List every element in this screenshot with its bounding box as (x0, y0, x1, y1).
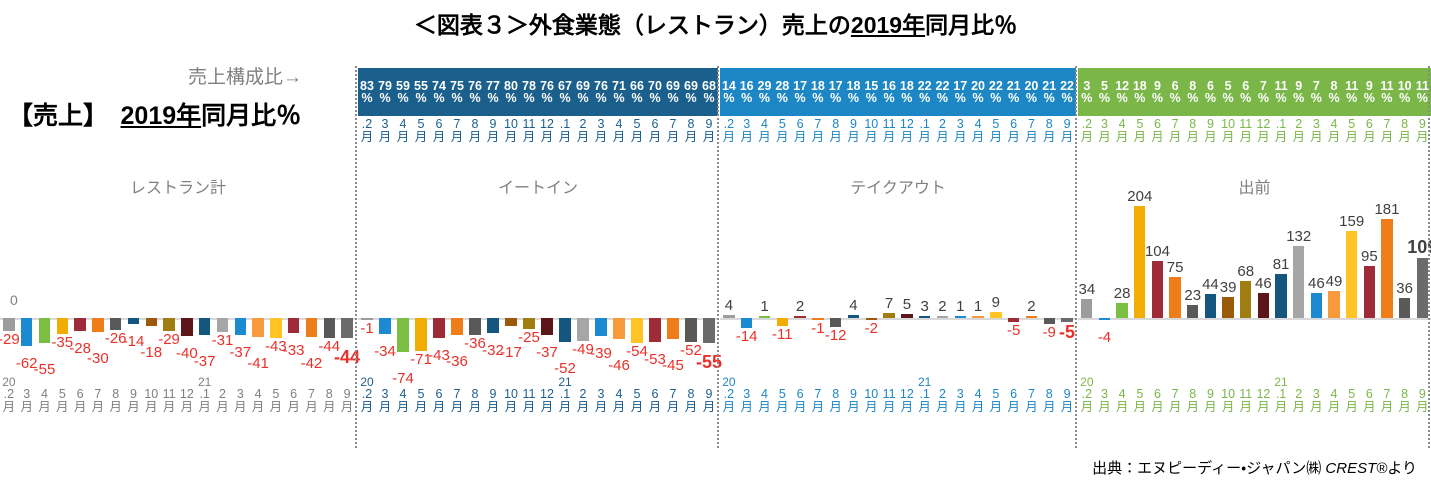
panel-title-eat_in: イートイン (358, 174, 718, 198)
bar-value-label: 81 (1273, 257, 1290, 272)
composition-cell: 6% (1166, 68, 1184, 116)
month-number: 3 (957, 388, 964, 401)
month-tick: 8月 (320, 388, 338, 434)
percent-sign: % (649, 92, 660, 105)
month-number: .2 (362, 388, 372, 401)
month-tick: 12月 (898, 118, 916, 164)
year-label: 21 (918, 106, 931, 118)
percent-sign: % (1134, 92, 1145, 105)
bar (1311, 293, 1322, 318)
bar (469, 318, 481, 335)
month-unit: 月 (1398, 131, 1411, 144)
month-number: 8 (832, 388, 839, 401)
percent-sign: % (595, 92, 606, 105)
percent-sign: % (1187, 92, 1198, 105)
month-unit: 月 (954, 131, 967, 144)
bar (1346, 231, 1357, 318)
month-number: .2 (362, 118, 372, 131)
bar-slot: -55 (700, 196, 718, 388)
bar-value-label: -1 (811, 321, 824, 336)
month-unit: 月 (216, 401, 229, 414)
month-number: 4 (41, 388, 48, 401)
composition-cell: 75% (448, 68, 466, 116)
composition-cell: 68% (700, 68, 718, 116)
bar-slot: -1 (809, 196, 827, 388)
percent-sign: % (1099, 92, 1110, 105)
month-tick: 3月 (376, 388, 394, 434)
month-unit: 月 (163, 401, 176, 414)
month-unit: 月 (523, 131, 536, 144)
month-tick: 5月 (773, 118, 791, 164)
month-tick: 8月 (107, 388, 125, 434)
month-number: 11 (883, 388, 896, 401)
bar (685, 318, 697, 342)
plot-area-delivery: 34-4282041047523443968468113246491599518… (1078, 196, 1431, 388)
month-tick: 6月 (430, 118, 448, 164)
percent-sign: % (723, 92, 734, 105)
percent-sign: % (379, 92, 390, 105)
bar (559, 318, 571, 342)
month-tick: 7月 (1023, 388, 1041, 434)
bar-slot: -52 (556, 196, 574, 388)
month-number: 3 (598, 118, 605, 131)
panel-divider (1075, 66, 1077, 448)
bar-slot: -41 (249, 196, 267, 388)
bar (649, 318, 661, 342)
bar-value-label: 68 (1237, 264, 1254, 279)
month-unit: 月 (1363, 131, 1376, 144)
month-number: 9 (1064, 118, 1071, 131)
month-number: 3 (743, 388, 750, 401)
month-number: 9 (130, 388, 137, 401)
month-tick: 7月 (664, 118, 682, 164)
month-unit: 月 (1151, 131, 1164, 144)
bar-slot: 5 (898, 196, 916, 388)
percent-sign: % (577, 92, 588, 105)
bar (1134, 206, 1145, 318)
bar (181, 318, 192, 336)
month-tick: 20.2月 (720, 118, 738, 164)
month-unit: 月 (703, 131, 716, 144)
year-label: 21 (558, 106, 571, 118)
month-number: 8 (832, 118, 839, 131)
bar (74, 318, 85, 331)
percent-sign: % (433, 92, 444, 105)
month-number: 7 (1028, 388, 1035, 401)
bar-value-label: -5 (1007, 323, 1020, 338)
month-unit: 月 (577, 131, 590, 144)
month-number: 6 (436, 388, 443, 401)
bar-slot: -4 (1096, 196, 1114, 388)
percent-sign: % (777, 92, 788, 105)
month-unit: 月 (685, 131, 698, 144)
month-number: 12 (540, 118, 554, 131)
month-unit: 月 (1151, 401, 1164, 414)
month-number: 2 (1295, 118, 1302, 131)
bar (110, 318, 121, 330)
month-unit: 月 (56, 401, 69, 414)
bar-slot: 132 (1290, 196, 1308, 388)
month-unit: 月 (847, 401, 860, 414)
month-tick: 5月 (53, 388, 71, 434)
bar (3, 318, 14, 331)
month-number: .1 (560, 118, 570, 131)
month-tick: 6月 (1361, 118, 1379, 164)
year-label: 20 (1080, 376, 1093, 388)
composition-cell: 78% (520, 68, 538, 116)
bar-value-label: 2 (1027, 299, 1035, 314)
month-unit: 月 (451, 401, 464, 414)
month-number: 5 (418, 388, 425, 401)
year-label: 20 (360, 106, 373, 118)
month-tick: 21.1月 (916, 118, 934, 164)
month-unit: 月 (829, 131, 842, 144)
month-number: 9 (1064, 388, 1071, 401)
month-unit: 月 (127, 401, 140, 414)
month-tick: 12月 (178, 388, 196, 434)
month-unit: 月 (990, 401, 1003, 414)
month-number: 3 (382, 118, 389, 131)
composition-cell: 18% (845, 68, 863, 116)
composition-cell: 7% (1308, 68, 1326, 116)
month-unit: 月 (1363, 401, 1376, 414)
percent-sign: % (848, 92, 859, 105)
month-unit: 月 (972, 131, 985, 144)
bar-slot: 95 (1361, 196, 1379, 388)
month-tick: 7月 (1166, 388, 1184, 434)
bar-value-label: 4 (849, 298, 857, 313)
month-tick: 10月 (502, 118, 520, 164)
month-tick: 9月 (1058, 388, 1076, 434)
month-tick: 4月 (756, 118, 774, 164)
month-unit: 月 (559, 131, 572, 144)
plot-area-restaurant_total: -29-62-55-35-28-30-26-14-18-29-40-37-31-… (0, 196, 356, 388)
source-brand: CREST® (1325, 460, 1387, 477)
month-unit: 月 (865, 401, 878, 414)
bar (92, 318, 103, 332)
bar-slot: 39 (1219, 196, 1237, 388)
bar-value-label: 49 (1326, 274, 1343, 289)
bar (901, 314, 912, 318)
month-tick: 4月 (756, 388, 774, 434)
month-unit: 月 (990, 131, 1003, 144)
month-tick: 4月 (969, 118, 987, 164)
month-unit: 月 (1081, 401, 1094, 414)
month-unit: 月 (776, 401, 789, 414)
percent-sign: % (741, 92, 752, 105)
plot-area-takeout: 4-141-112-1-124-27532119-52-9-5 (720, 196, 1076, 388)
bar (1026, 316, 1037, 318)
month-number: 10 (504, 118, 518, 131)
month-unit: 月 (1187, 131, 1200, 144)
month-tick: 9月 (845, 118, 863, 164)
bar-group-eat_in: -1-34-74-71-43-36-36-32-17-25-37-52-49-3… (358, 196, 718, 388)
month-unit: 月 (1116, 401, 1129, 414)
bar (451, 318, 463, 335)
bar-slot: -44 (338, 196, 356, 388)
month-unit: 月 (1275, 401, 1288, 414)
month-unit: 月 (883, 401, 896, 414)
bar-slot: -62 (18, 196, 36, 388)
month-unit: 月 (1187, 401, 1200, 414)
month-unit: 月 (723, 401, 736, 414)
month-tick: 8月 (827, 118, 845, 164)
bar (1222, 297, 1233, 318)
month-unit: 月 (361, 131, 374, 144)
month-unit: 月 (433, 131, 446, 144)
month-tick: 4月 (969, 388, 987, 434)
panel-divider (355, 66, 357, 448)
month-tick: 5月 (987, 118, 1005, 164)
month-unit: 月 (865, 131, 878, 144)
month-unit: 月 (1043, 131, 1056, 144)
bar (39, 318, 50, 343)
month-unit: 月 (723, 131, 736, 144)
month-tick: 5月 (1343, 388, 1361, 434)
percent-sign: % (451, 92, 462, 105)
month-tick: 5月 (1131, 388, 1149, 434)
composition-cell: 59% (394, 68, 412, 116)
bar-value-label: 95 (1361, 249, 1378, 264)
bar (919, 316, 930, 318)
month-unit: 月 (341, 401, 354, 414)
composition-cell: 69% (682, 68, 700, 116)
year-label: 21 (558, 376, 571, 388)
percent-sign: % (884, 92, 895, 105)
percent-sign: % (1044, 92, 1055, 105)
bar (955, 316, 966, 318)
bar-slot: 81 (1272, 196, 1290, 388)
bar-value-label: 39 (1220, 280, 1237, 295)
month-tick: 20.2月 (358, 388, 376, 434)
bar-value-label: 9 (992, 295, 1000, 310)
month-unit: 月 (667, 401, 680, 414)
month-number: 7 (1172, 388, 1179, 401)
month-unit: 月 (1239, 401, 1252, 414)
month-tick: 3月 (1308, 118, 1326, 164)
bar-slot: 7 (880, 196, 898, 388)
composition-cell: 70% (646, 68, 664, 116)
month-tick: 8月 (466, 388, 484, 434)
month-tick: 5月 (773, 388, 791, 434)
month-number: 5 (1348, 388, 1355, 401)
bar (777, 318, 788, 326)
month-number: .2 (724, 388, 734, 401)
month-unit: 月 (74, 401, 87, 414)
bar-value-label: 2 (796, 299, 804, 314)
percent-sign: % (1311, 92, 1322, 105)
month-unit: 月 (1204, 401, 1217, 414)
month-number: 12 (540, 388, 554, 401)
percent-sign: % (1240, 92, 1251, 105)
month-unit: 月 (595, 131, 608, 144)
bar-value-label: 1 (956, 299, 964, 314)
bar-value-label: -41 (247, 356, 269, 371)
month-number: 8 (472, 118, 479, 131)
month-tick: 4月 (610, 118, 628, 164)
month-tick: 10月 (142, 388, 160, 434)
composition-cell: 17% (951, 68, 969, 116)
month-tick: 21.1月 (916, 388, 934, 434)
bar-slot: 4 (720, 196, 738, 388)
month-tick: 6月 (646, 118, 664, 164)
month-tick: 5月 (412, 388, 430, 434)
month-unit: 月 (379, 131, 392, 144)
month-tick: 8月 (1040, 118, 1058, 164)
month-tick: 21.1月 (556, 118, 574, 164)
bar-slot: -11 (773, 196, 791, 388)
month-number: 4 (616, 388, 623, 401)
month-axis-top-takeout: 20.2月3月4月5月6月7月8月9月10月11月12月21.1月2月3月4月5… (720, 118, 1076, 164)
percent-sign: % (1258, 92, 1269, 105)
bar-value-label: -55 (34, 362, 56, 377)
month-number: 9 (706, 388, 713, 401)
month-number: 4 (761, 118, 768, 131)
month-number: .1 (1276, 388, 1286, 401)
composition-cell: 22% (934, 68, 952, 116)
bar (523, 318, 535, 329)
month-tick: 4月 (394, 388, 412, 434)
month-number: 7 (814, 118, 821, 131)
month-number: 8 (1046, 118, 1053, 131)
month-number: 3 (382, 388, 389, 401)
composition-band-eat_in: 83%79%59%55%74%75%76%77%80%78%76%67%69%7… (358, 68, 718, 116)
month-number: 9 (490, 118, 497, 131)
composition-cell: 77% (484, 68, 502, 116)
bar-slot: -30 (89, 196, 107, 388)
bar (1081, 299, 1092, 318)
percent-sign: % (866, 92, 877, 105)
bar-value-label: -37 (536, 345, 558, 360)
bar (667, 318, 679, 339)
month-tick: 3月 (1096, 118, 1114, 164)
month-unit: 月 (1081, 131, 1094, 144)
year-label: 20 (1080, 106, 1093, 118)
bar-group-delivery: 34-4282041047523443968468113246491599518… (1078, 196, 1431, 388)
month-unit: 月 (1007, 131, 1020, 144)
month-unit: 月 (1204, 131, 1217, 144)
month-unit: 月 (252, 401, 265, 414)
bar-slot: -35 (53, 196, 71, 388)
bar-slot: -17 (502, 196, 520, 388)
month-number: 4 (1119, 118, 1126, 131)
bar (1169, 277, 1180, 318)
month-tick: 9月 (338, 388, 356, 434)
month-number: 4 (1119, 388, 1126, 401)
month-tick: 11月 (520, 388, 538, 434)
bar (1417, 258, 1428, 318)
month-unit: 月 (1398, 401, 1411, 414)
month-tick: 6月 (791, 388, 809, 434)
bar-group-takeout: 4-141-112-1-124-27532119-52-9-5 (720, 196, 1076, 388)
month-number: 11 (163, 388, 176, 401)
month-number: 7 (94, 388, 101, 401)
month-unit: 月 (631, 401, 644, 414)
month-number: 6 (1366, 388, 1373, 401)
month-number: 9 (344, 388, 351, 401)
composition-cell: 17% (791, 68, 809, 116)
month-unit: 月 (936, 401, 949, 414)
bar (937, 316, 948, 318)
composition-cell: 18% (809, 68, 827, 116)
month-number: 7 (308, 388, 315, 401)
percent-sign: % (1364, 92, 1375, 105)
bar-value-label: -12 (825, 328, 847, 343)
percent-sign: % (1026, 92, 1037, 105)
bar-slot: 3 (916, 196, 934, 388)
bar (252, 318, 263, 337)
month-number: .1 (1276, 118, 1286, 131)
month-unit: 月 (1169, 131, 1182, 144)
bar (163, 318, 174, 331)
month-tick: 6月 (1005, 388, 1023, 434)
percent-sign: % (1399, 92, 1410, 105)
month-tick: 10月 (1219, 118, 1237, 164)
month-number: 10 (864, 118, 878, 131)
month-tick: 11月 (880, 118, 898, 164)
percent-sign: % (901, 92, 912, 105)
month-number: 2 (939, 118, 946, 131)
bar-value-label: 4 (725, 298, 733, 313)
month-number: 5 (992, 388, 999, 401)
month-unit: 月 (92, 401, 105, 414)
bar (883, 313, 894, 318)
month-tick: 20.2月 (0, 388, 18, 434)
month-tick: 4月 (394, 118, 412, 164)
percent-sign: % (397, 92, 408, 105)
percent-sign: % (1152, 92, 1163, 105)
month-tick: 20.2月 (1078, 388, 1096, 434)
bar-value-label: 28 (1114, 286, 1131, 301)
year-label: 21 (1274, 376, 1287, 388)
month-number: 10 (144, 388, 158, 401)
composition-cell: 55% (412, 68, 430, 116)
composition-cell: 74% (430, 68, 448, 116)
percent-sign: % (1381, 92, 1392, 105)
bar (1364, 266, 1375, 318)
month-tick: 6月 (71, 388, 89, 434)
month-unit: 月 (1257, 401, 1270, 414)
composition-cell: 9% (1290, 68, 1308, 116)
percent-sign: % (1008, 92, 1019, 105)
month-tick: 21.1月 (556, 388, 574, 434)
month-tick: 7月 (448, 118, 466, 164)
month-tick: 20.2月 (358, 118, 376, 164)
month-tick: 5月 (628, 388, 646, 434)
month-tick: 6月 (285, 388, 303, 434)
bar (1187, 305, 1198, 318)
bar-slot: 68 (1237, 196, 1255, 388)
bar-slot: -12 (827, 196, 845, 388)
bar-value-label: 36 (1396, 281, 1413, 296)
month-number: 12 (180, 388, 194, 401)
bar (397, 318, 409, 352)
month-number: 9 (850, 118, 857, 131)
month-unit: 月 (1061, 401, 1074, 414)
panel-takeout: 14%16%29%28%17%18%17%18%15%16%18%22%22%1… (720, 0, 1076, 482)
bar-value-label: -11 (772, 327, 793, 342)
month-unit: 月 (1345, 401, 1358, 414)
month-number: .2 (1082, 388, 1092, 401)
bar (415, 318, 427, 351)
percent-sign: % (972, 92, 983, 105)
month-unit: 月 (1310, 401, 1323, 414)
bar (741, 318, 752, 328)
percent-sign: % (1205, 92, 1216, 105)
percent-sign: % (812, 92, 823, 105)
month-unit: 月 (1328, 131, 1341, 144)
bar-slot: 23 (1184, 196, 1202, 388)
